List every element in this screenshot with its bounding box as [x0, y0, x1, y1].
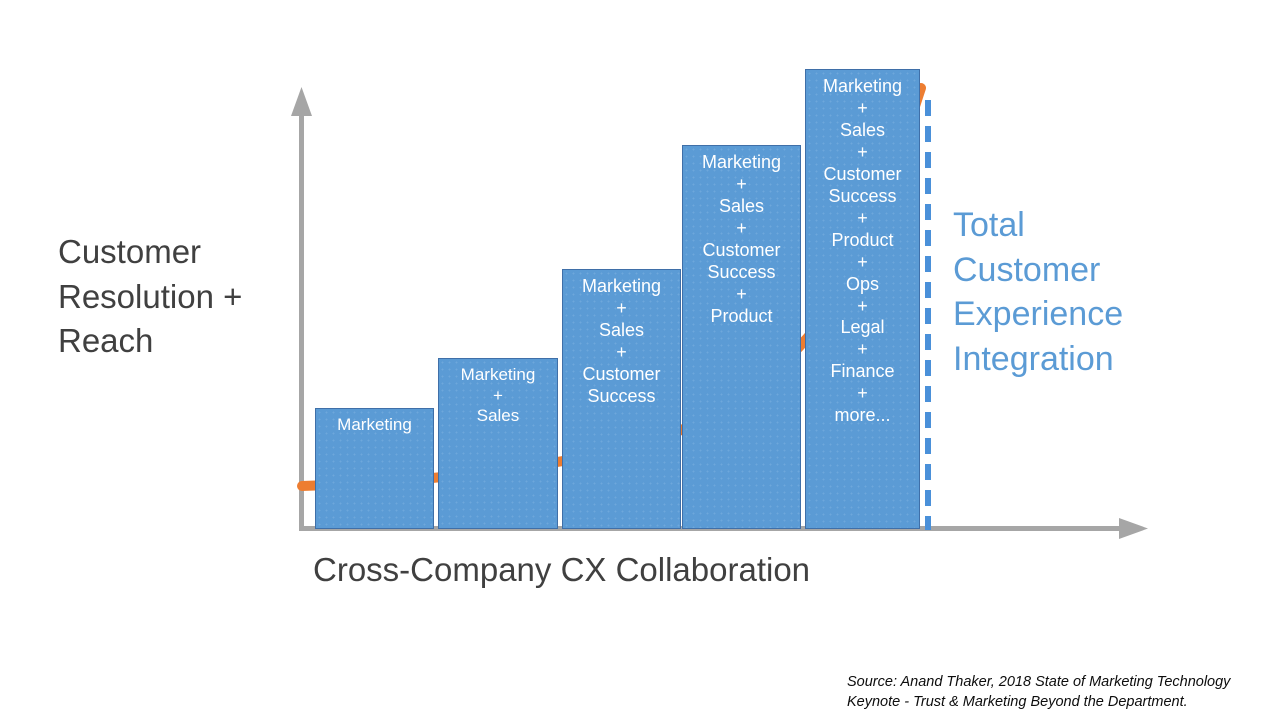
dashed-divider-line: [925, 100, 931, 530]
slide-canvas: Marketing Marketing + Sales Marketing + …: [0, 0, 1280, 720]
bar-1-label: Marketing: [316, 415, 433, 436]
y-axis-label: Customer Resolution + Reach: [58, 230, 290, 364]
bar-5[interactable]: Marketing + Sales + Customer Success + P…: [805, 69, 920, 529]
bar-5-label: Marketing + Sales + Customer Success + P…: [806, 76, 919, 427]
bar-2[interactable]: Marketing + Sales: [438, 358, 558, 529]
y-axis-arrowhead: [291, 87, 312, 116]
source-caption: Source: Anand Thaker, 2018 State of Mark…: [847, 673, 1277, 712]
bar-1[interactable]: Marketing: [315, 408, 434, 529]
integration-annotation: Total Customer Experience Integration: [953, 203, 1253, 381]
bar-4[interactable]: Marketing + Sales + Customer Success + P…: [682, 145, 801, 529]
bar-3[interactable]: Marketing + Sales + Customer Success: [562, 269, 681, 529]
bar-3-label: Marketing + Sales + Customer Success: [563, 276, 680, 408]
x-axis-arrowhead: [1119, 518, 1148, 539]
bar-4-label: Marketing + Sales + Customer Success + P…: [683, 152, 800, 328]
x-axis-label: Cross-Company CX Collaboration: [313, 551, 810, 589]
bar-2-label: Marketing + Sales: [439, 365, 557, 427]
